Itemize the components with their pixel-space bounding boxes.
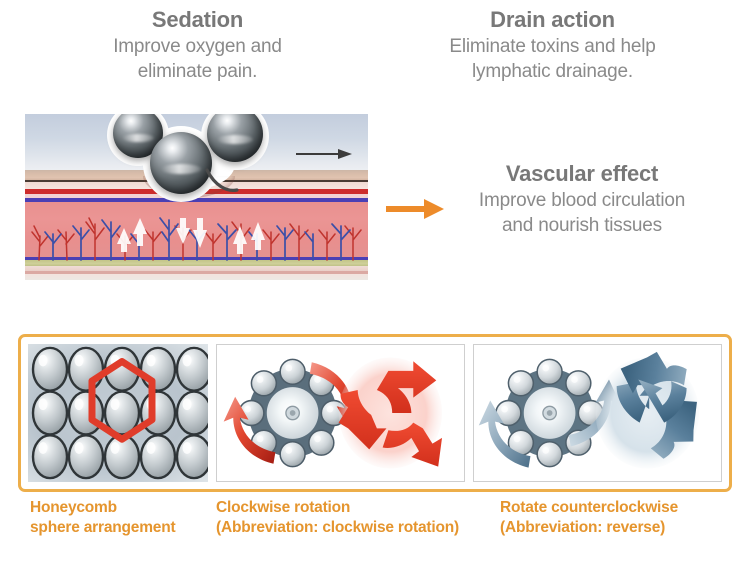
caption-honeycomb-line-1: Honeycomb [30,498,220,518]
caption-honeycomb-line-2: sphere arrangement [30,518,220,538]
caption-counterclockwise-line-1: Rotate counterclockwise [500,498,750,518]
panel-captions: Honeycomb sphere arrangement Clockwise r… [0,498,750,554]
drain-line-2: lymphatic drainage. [375,59,730,84]
headings-row: Sedation Improve oxygen and eliminate pa… [0,0,750,100]
caption-counterclockwise-line-2: (Abbreviation: reverse) [500,518,750,538]
clockwise-rotation-diagram [216,344,465,482]
honeycomb-spheres-diagram [28,344,208,482]
recycle-arrows-icon [596,345,714,469]
caption-honeycomb: Honeycomb sphere arrangement [30,498,220,538]
clockwise-rotation-illustration [217,345,464,481]
counterclockwise-rotation-diagram [473,344,722,482]
sedation-line-2: eliminate pain. [20,59,375,84]
swirl-icon [205,168,239,194]
vascular-line-1: Improve blood circulation [432,188,732,213]
counterclockwise-rotation-illustration [474,345,721,481]
arrow-right-icon [296,146,352,162]
recycle-arrows-icon [339,357,442,468]
massage-sphere [150,132,212,194]
skin-cross-section-illustration [25,114,368,280]
heading-block-drain-action: Drain action Eliminate toxins and help l… [375,0,730,84]
caption-clockwise-line-1: Clockwise rotation [216,498,506,518]
sedation-line-1: Improve oxygen and [20,34,375,59]
page-title-drain-action: Drain action [375,0,730,34]
vascular-line-2: and nourish tissues [432,213,732,238]
rotation-modes-panel [18,334,732,492]
honeycomb-sphere-arrangement [28,344,208,482]
deep-tissue-layer [25,274,368,280]
heading-block-sedation: Sedation Improve oxygen and eliminate pa… [20,0,375,84]
page-title-sedation: Sedation [20,0,375,34]
page-title-vascular-effect: Vascular effect [432,160,732,188]
vascular-effect-block: Vascular effect Improve blood circulatio… [432,160,732,238]
caption-clockwise: Clockwise rotation (Abbreviation: clockw… [216,498,506,538]
caption-clockwise-line-2: (Abbreviation: clockwise rotation) [216,518,506,538]
caption-counterclockwise: Rotate counterclockwise (Abbreviation: r… [500,498,750,538]
drain-line-1: Eliminate toxins and help [375,34,730,59]
fluid-flow-arrows [25,200,368,262]
